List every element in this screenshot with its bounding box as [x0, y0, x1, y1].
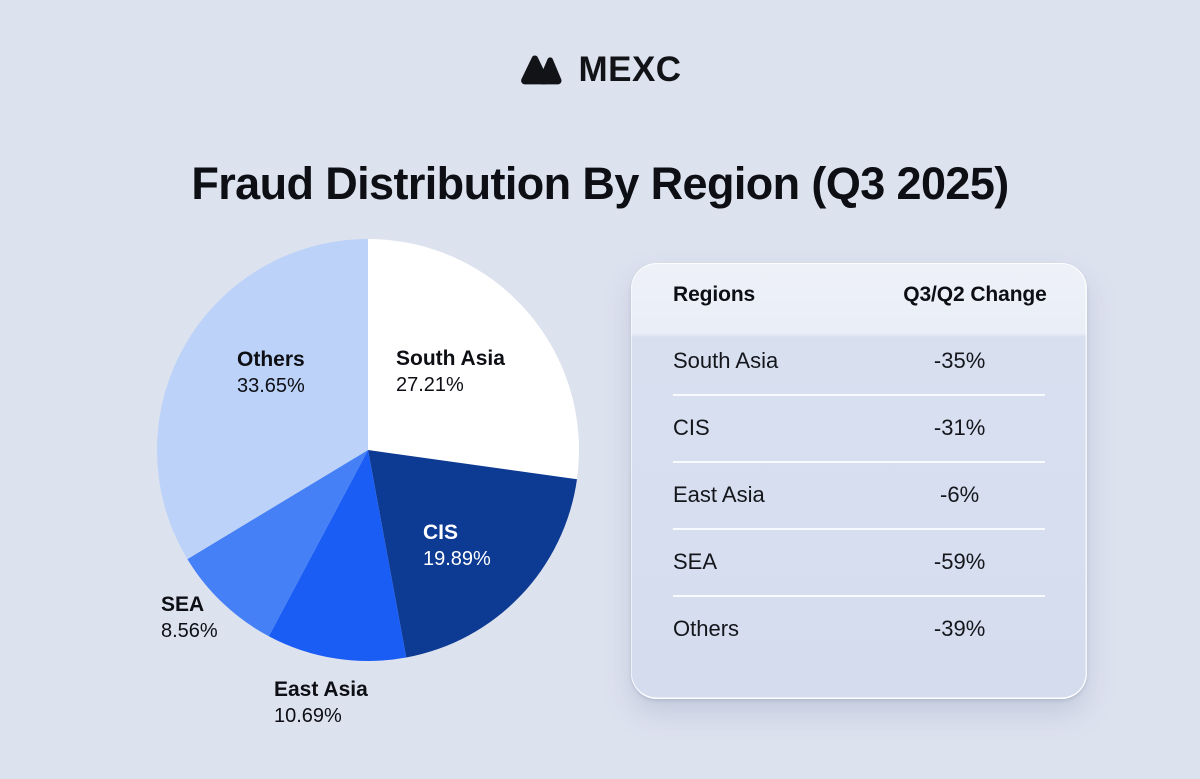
pie-label-south-asia: South Asia 27.21% — [396, 346, 505, 398]
table-row: CIS-31% — [673, 394, 1045, 461]
pie-label-cis: CIS 19.89% — [423, 520, 491, 572]
pie-label-south-asia-name: South Asia — [396, 346, 505, 373]
table-cell-region: SEA — [673, 549, 874, 575]
pie-label-sea: SEA 8.56% — [161, 592, 218, 644]
table-cell-change: -31% — [874, 415, 1045, 441]
table-row: SEA-59% — [673, 528, 1045, 595]
pie-label-east-asia: East Asia 10.69% — [274, 677, 368, 729]
table-header-change: Q3/Q2 Change — [885, 283, 1065, 307]
pie-label-east-asia-value: 10.69% — [274, 704, 368, 730]
pie-label-cis-name: CIS — [423, 520, 491, 547]
table-header-row: Regions Q3/Q2 Change — [631, 263, 1087, 327]
region-change-table-card: Regions Q3/Q2 Change South Asia-35%CIS-3… — [631, 263, 1087, 699]
table-cell-change: -39% — [874, 616, 1045, 642]
table-row: South Asia-35% — [673, 327, 1045, 394]
pie-label-others: Others 33.65% — [237, 347, 305, 399]
table-cell-region: South Asia — [673, 348, 874, 374]
table-cell-change: -6% — [874, 482, 1045, 508]
pie-label-sea-name: SEA — [161, 592, 218, 619]
table-cell-change: -59% — [874, 549, 1045, 575]
table-row: East Asia-6% — [673, 461, 1045, 528]
brand-logo: MEXC — [0, 52, 1200, 87]
pie-label-others-name: Others — [237, 347, 305, 374]
pie-svg — [96, 212, 656, 752]
brand-name: MEXC — [578, 52, 681, 87]
pie-slice-group — [157, 239, 579, 661]
pie-label-others-value: 33.65% — [237, 374, 305, 400]
table-header-regions: Regions — [673, 283, 885, 307]
page-title: Fraud Distribution By Region (Q3 2025) — [0, 158, 1200, 210]
table-cell-change: -35% — [874, 348, 1045, 374]
fraud-distribution-pie-chart: South Asia 27.21% CIS 19.89% East Asia 1… — [96, 212, 656, 752]
table-body: South Asia-35%CIS-31%East Asia-6%SEA-59%… — [631, 327, 1087, 662]
mexc-double-triangle-logo-icon — [518, 55, 564, 85]
table-row: Others-39% — [673, 595, 1045, 662]
pie-label-south-asia-value: 27.21% — [396, 373, 505, 399]
table-cell-region: East Asia — [673, 482, 874, 508]
pie-label-cis-value: 19.89% — [423, 547, 491, 573]
pie-label-east-asia-name: East Asia — [274, 677, 368, 704]
table-cell-region: Others — [673, 616, 874, 642]
table-cell-region: CIS — [673, 415, 874, 441]
pie-label-sea-value: 8.56% — [161, 619, 218, 645]
